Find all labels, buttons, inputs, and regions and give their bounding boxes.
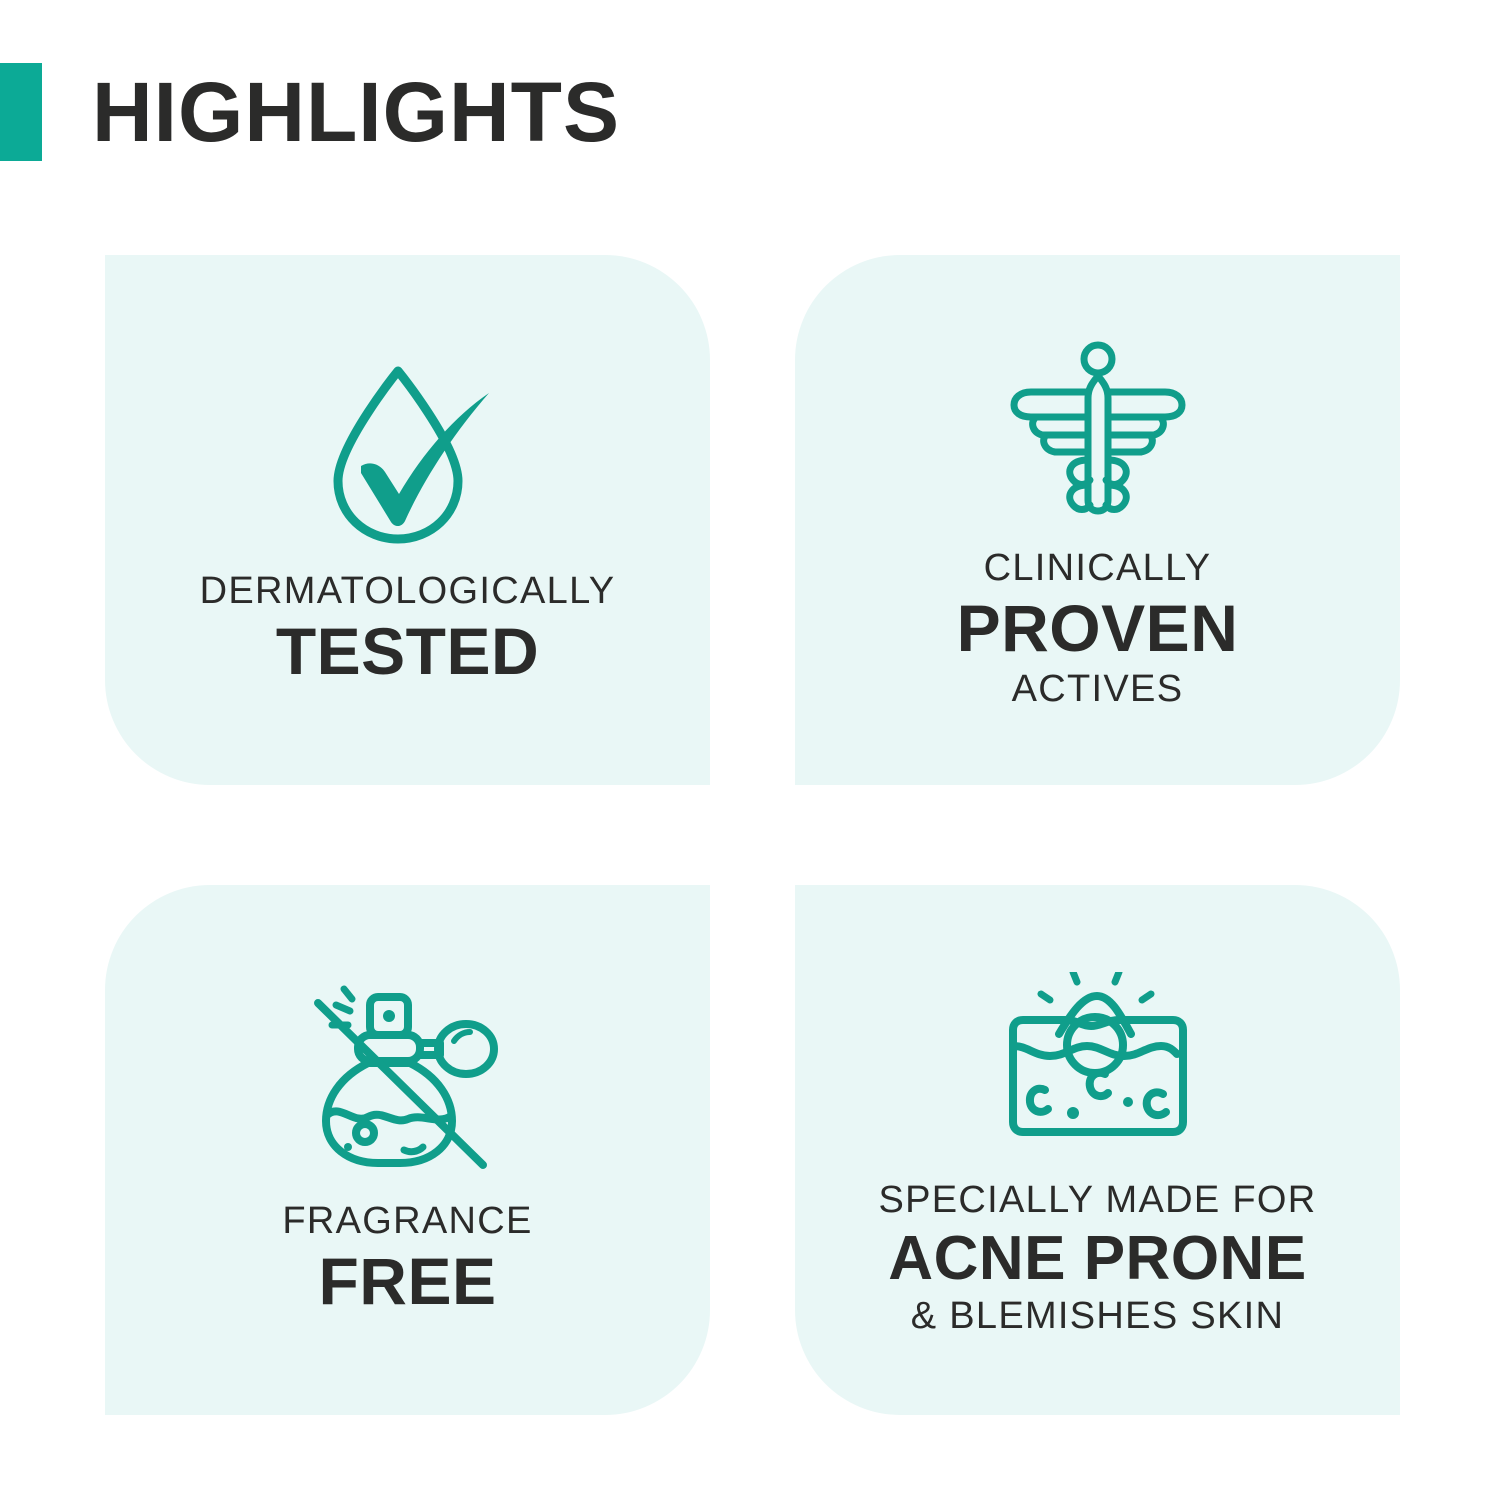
caduceus-medical-icon (998, 330, 1198, 530)
highlight-card-clinically-proven: CLINICALLY PROVEN ACTIVES (795, 255, 1400, 785)
highlight-card-fragrance-free: FRAGRANCE FREE (105, 885, 710, 1415)
card-line-main: TESTED (200, 616, 616, 687)
page-title: HIGHLIGHTS (92, 70, 620, 154)
card-line-main: ACNE PRONE (878, 1226, 1316, 1293)
card-line-bottom: & BLEMISHES SKIN (878, 1296, 1316, 1337)
card-line-bottom: ACTIVES (957, 669, 1239, 710)
acne-prone-skin-layer-icon (995, 962, 1200, 1162)
highlights-grid: DERMATOLOGICALLY TESTED (105, 255, 1400, 1415)
card-line-main: PROVEN (957, 593, 1239, 664)
page-header: HIGHLIGHTS (0, 62, 620, 162)
card-line-top: FRAGRANCE (282, 1201, 532, 1242)
card-text-block: DERMATOLOGICALLY TESTED (200, 571, 616, 687)
highlight-card-acne-prone: SPECIALLY MADE FOR ACNE PRONE & BLEMISHE… (795, 885, 1400, 1415)
water-droplet-check-icon (303, 353, 513, 553)
card-text-block: SPECIALLY MADE FOR ACNE PRONE & BLEMISHE… (878, 1180, 1316, 1337)
highlight-card-dermatologically-tested: DERMATOLOGICALLY TESTED (105, 255, 710, 785)
card-line-top: CLINICALLY (957, 548, 1239, 589)
card-line-top: SPECIALLY MADE FOR (878, 1180, 1316, 1221)
no-fragrance-perfume-bottle-icon (308, 983, 508, 1183)
card-line-top: DERMATOLOGICALLY (200, 571, 616, 612)
card-text-block: FRAGRANCE FREE (282, 1201, 532, 1317)
highlights-page: HIGHLIGHTS DERMATOLOGICALLY TESTED (0, 0, 1500, 1500)
card-text-block: CLINICALLY PROVEN ACTIVES (957, 548, 1239, 709)
card-line-main: FREE (282, 1246, 532, 1317)
header-accent-bar (0, 63, 42, 161)
